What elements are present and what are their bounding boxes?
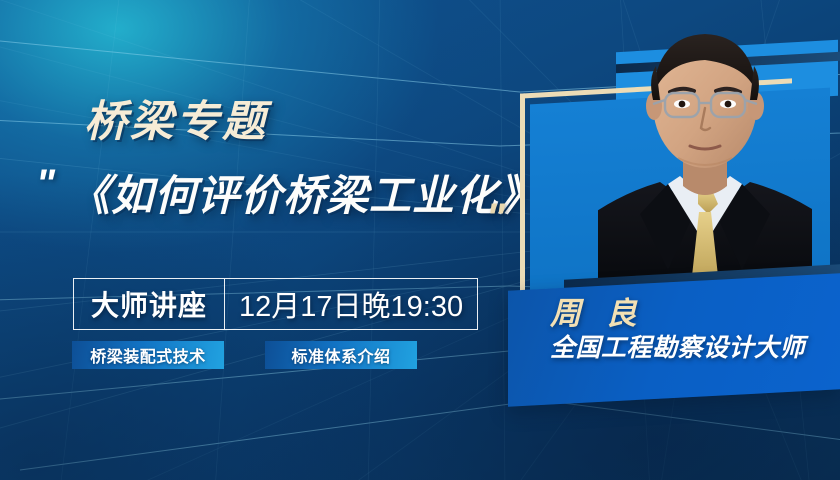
page-subtitle: 《如何评价桥梁工业化》: [68, 175, 541, 217]
speaker-name: 周 良: [550, 298, 840, 329]
lecture-type-label: 大师讲座: [74, 279, 225, 329]
speaker-nameplate: 周 良 全国工程勘察设计大师: [508, 273, 840, 406]
speaker-composition: 周 良 全国工程勘察设计大师: [498, 0, 840, 480]
speaker-title: 全国工程勘察设计大师: [550, 336, 840, 361]
lecture-datetime-label: 12月17日晚19:30: [225, 279, 477, 329]
lecture-info-bar: 大师讲座 12月17日晚19:30: [73, 278, 478, 330]
quote-open-icon: ": [36, 164, 52, 204]
page-title: 桥梁专题: [84, 101, 268, 144]
topic-tag-list: 桥梁装配式技术 标准体系介绍: [72, 341, 417, 369]
speaker-portrait-photo: [598, 8, 812, 284]
promo-banner: 桥梁专题 " 《如何评价桥梁工业化》 " 大师讲座 12月17日晚19:30 桥…: [0, 0, 840, 480]
topic-tag[interactable]: 桥梁装配式技术: [72, 341, 224, 369]
topic-tag[interactable]: 标准体系介绍: [265, 341, 417, 369]
